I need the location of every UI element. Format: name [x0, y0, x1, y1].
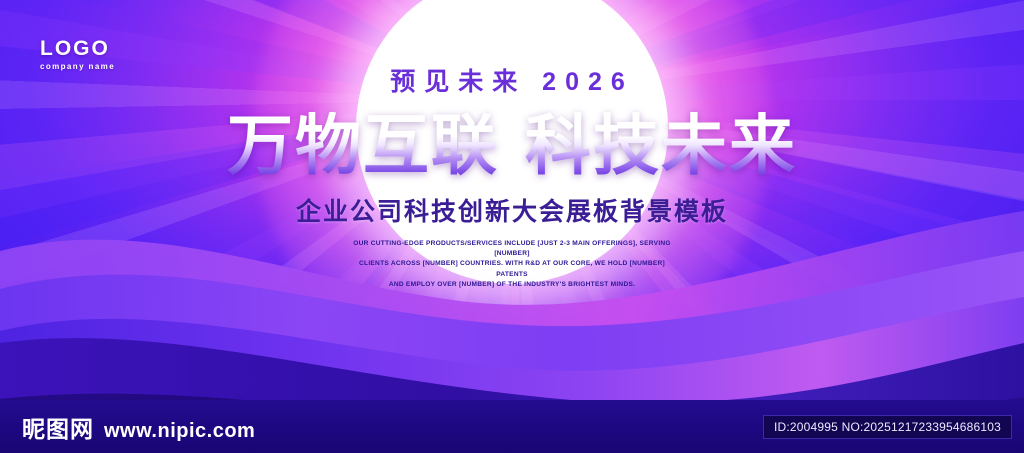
description-block: OUR CUTTING-EDGE PRODUCTS/SERVICES INCLU… [347, 239, 677, 290]
footer-bar: 昵图网 www.nipic.com ID:2004995 NO:20251217… [0, 400, 1024, 453]
eyebrow-text: 预见未来 2026 [0, 62, 1024, 98]
description-line: AND EMPLOY OVER [NUMBER] OF THE INDUSTRY… [347, 280, 677, 290]
description-line: OUR CUTTING-EDGE PRODUCTS/SERVICES INCLU… [347, 239, 677, 259]
description-line: CLIENTS ACROSS [NUMBER] COUNTRIES. WITH … [347, 259, 677, 279]
headline-part-right: 科技未来 [525, 108, 797, 182]
site-branding[interactable]: 昵图网 www.nipic.com [22, 410, 255, 444]
page-title: 万物互联科技未来 [0, 112, 1024, 178]
poster-content: 预见未来 2026 万物互联科技未来 企业公司科技创新大会展板背景模板 OUR … [0, 0, 1024, 290]
site-url-text: www.nipic.com [104, 420, 255, 443]
asset-id-badge: ID:2004995 NO:20251217233954686103 [763, 415, 1012, 439]
site-name-cn: 昵图网 [22, 410, 94, 444]
subtitle-text: 企业公司科技创新大会展板背景模板 [0, 192, 1024, 228]
poster-canvas: LOGO company name 预见未来 2026 万物互联科技未来 企业公… [0, 0, 1024, 453]
headline-part-left: 万物互联 [227, 108, 499, 182]
